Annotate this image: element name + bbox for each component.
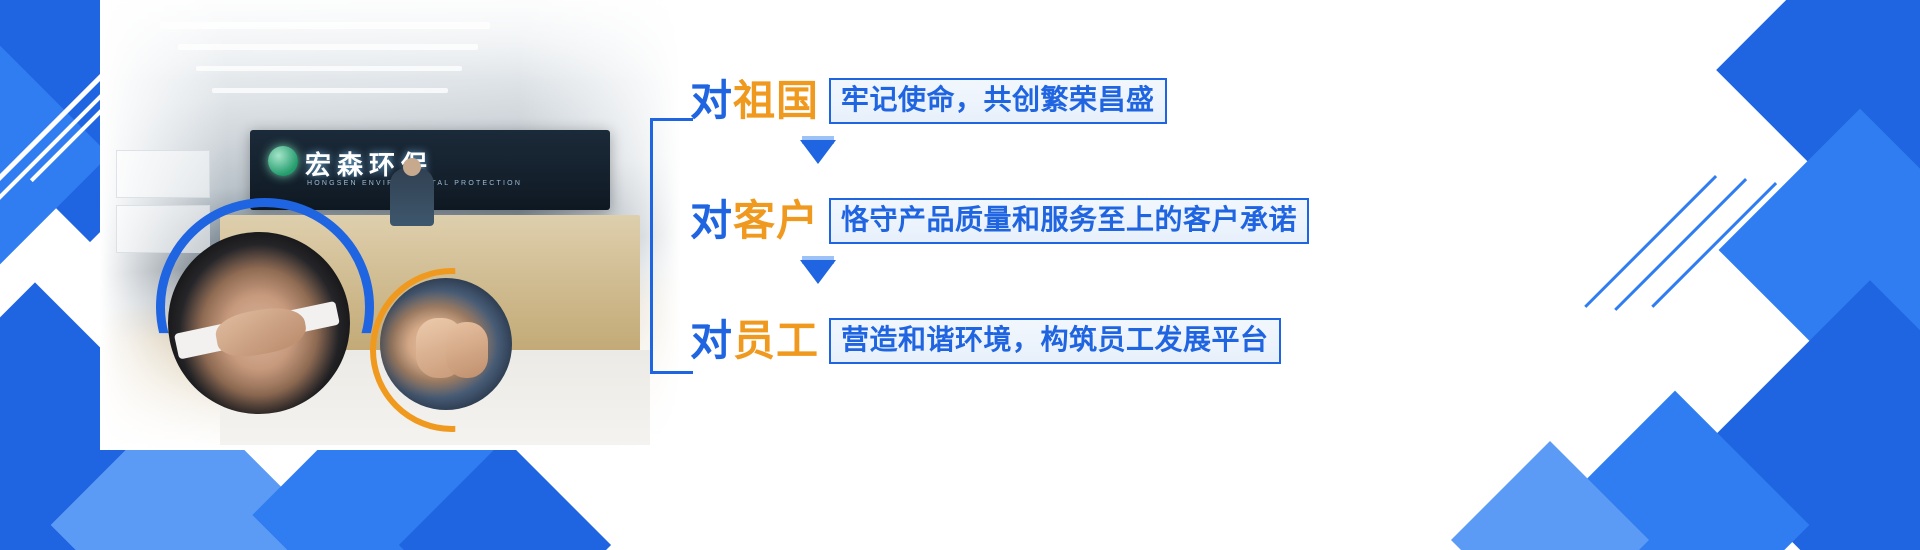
decor-diagonal-line-1	[1584, 175, 1717, 308]
slogan-keyword-3: 对员工	[690, 320, 819, 362]
wall-panel-1	[116, 150, 210, 198]
slogan-rows: 对祖国 牢记使命，共创繁荣昌盛 对客户 恪守产品质量和服务至上的客户承诺	[690, 70, 1370, 372]
company-culture-banner: 宏森环保 HONGSEN ENVIRONMENTAL PROTECTION	[0, 0, 1920, 550]
hand-shape	[213, 303, 309, 362]
slogan-gap-1	[690, 132, 1370, 190]
ceiling-light-3	[196, 66, 462, 71]
slogan-gap-2	[690, 252, 1370, 310]
handshake-circle-photo	[168, 232, 350, 414]
clapping-hand-right	[446, 322, 488, 378]
slogan-row-2: 对客户 恪守产品质量和服务至上的客户承诺	[690, 190, 1370, 252]
slogan-keyword-prefix-3: 对	[690, 317, 733, 364]
slogan-row-3: 对员工 营造和谐环境，构筑员工发展平台	[690, 310, 1370, 372]
slogan-keyword-1: 对祖国	[690, 80, 819, 122]
slogan-description-3: 营造和谐环境，构筑员工发展平台	[829, 318, 1281, 364]
ceiling-light-1	[160, 22, 490, 29]
ceiling-light-2	[178, 44, 478, 50]
slogan-keyword-accent-1: 祖国	[733, 77, 819, 124]
slogan-description-1: 牢记使命，共创繁荣昌盛	[829, 78, 1167, 124]
slogan-section: 对祖国 牢记使命，共创繁荣昌盛 对客户 恪守产品质量和服务至上的客户承诺	[650, 70, 1370, 400]
company-logo-icon	[268, 146, 298, 176]
applause-circle-photo	[380, 278, 512, 410]
slogan-keyword-prefix-1: 对	[690, 77, 733, 124]
receptionist-head	[403, 158, 421, 176]
arrow-down-icon-1	[800, 140, 836, 164]
photo-collage: 宏森环保 HONGSEN ENVIRONMENTAL PROTECTION	[60, 0, 680, 470]
slogan-row-1: 对祖国 牢记使命，共创繁荣昌盛	[690, 70, 1370, 132]
receptionist-body	[390, 168, 434, 226]
slogan-keyword-accent-3: 员工	[733, 317, 819, 364]
slogan-keyword-prefix-2: 对	[690, 197, 733, 244]
decor-bracket	[650, 118, 693, 374]
slogan-keyword-accent-2: 客户	[733, 197, 819, 244]
slogan-description-2: 恪守产品质量和服务至上的客户承诺	[829, 198, 1309, 244]
slogan-keyword-2: 对客户	[690, 200, 819, 242]
ceiling-light-4	[212, 88, 448, 93]
arrow-down-icon-2	[800, 260, 836, 284]
